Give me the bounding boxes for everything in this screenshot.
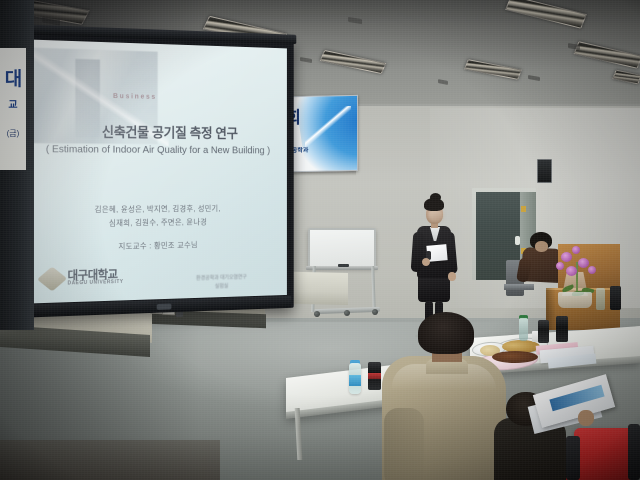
whiteboard[interactable] <box>308 228 376 268</box>
bottle-label <box>349 375 361 386</box>
can-on-podium[interactable] <box>610 286 621 310</box>
slide-advisor: 지도교수 : 황민조 교수님 <box>21 238 287 254</box>
beverage-can[interactable] <box>538 320 549 343</box>
orchid-bloom-icon <box>556 262 564 270</box>
khaki-suit-fold <box>384 408 424 480</box>
presenter-hair-bun <box>430 193 441 202</box>
logo-diamond-icon <box>37 266 67 291</box>
audience-hair <box>418 312 474 354</box>
audience-member-reading <box>500 392 640 480</box>
chair-seat <box>504 284 534 290</box>
whiteboard-caster-icon <box>372 309 378 315</box>
banner-left-line3: (금) <box>0 128 26 139</box>
wall-panel <box>537 159 552 183</box>
event-banner-left: 대 교 (금) <box>0 48 26 170</box>
reader-hand <box>578 410 594 426</box>
bottle-on-podium[interactable] <box>596 288 605 310</box>
projection-screen: Business 신축건물 공기질 측정 연구 ( Estimation of … <box>14 30 294 318</box>
slide-authors-line-2: 심재희, 김원수, 주면은, 윤나경 <box>21 216 287 230</box>
slide-watermark-text: Business <box>113 93 157 101</box>
orchid-stem <box>576 262 578 294</box>
orchid-pot <box>558 292 592 308</box>
whiteboard-caster-icon <box>344 310 350 316</box>
presenter-skirt <box>418 276 450 302</box>
whiteboard-marker-icon[interactable] <box>338 264 349 267</box>
water-bottle[interactable] <box>519 318 528 341</box>
orchid-bloom-icon <box>566 266 577 276</box>
university-logo: 대구대학교 DAEGU UNIVERSITY <box>42 264 165 293</box>
banner-left-line1: 대 <box>0 64 26 91</box>
can-label <box>368 373 381 379</box>
orchid-bloom-icon <box>561 252 572 262</box>
seated-person-face <box>535 241 548 252</box>
banner-left-line2: 교 <box>0 96 26 111</box>
slide-authors-line-1: 김은혜, 윤성은, 박지연, 김경후, 성민기, <box>21 203 287 216</box>
orchid-bloom-icon <box>572 246 580 254</box>
floor-edge-strip <box>0 440 220 480</box>
presenter-hand-left <box>422 258 430 266</box>
beverage-can[interactable] <box>556 316 568 342</box>
presenter-hand-right <box>448 272 456 281</box>
audience-member-khaki <box>382 312 506 480</box>
photograph-scene: 발표회 표회 구대학교 환경공학과 Business 신축건물 공기질 측정 연… <box>0 0 640 480</box>
slide-surface: Business 신축건물 공기질 측정 연구 ( Estimation of … <box>21 39 287 304</box>
door-hinge-icon <box>521 206 526 212</box>
logo-name-english: DAEGU UNIVERSITY <box>68 279 124 286</box>
whiteboard-caster-icon <box>314 311 320 317</box>
screen-pull-handle[interactable] <box>157 304 172 310</box>
banner-swoosh-highlight-icon <box>305 106 351 165</box>
slide-subtitle: ( Estimation of Indoor Air Quality for a… <box>27 143 287 156</box>
orchid-bloom-icon <box>578 258 589 268</box>
orchid-bloom-icon <box>588 266 596 274</box>
slide-title: 신축건물 공기질 측정 연구 <box>102 122 282 143</box>
